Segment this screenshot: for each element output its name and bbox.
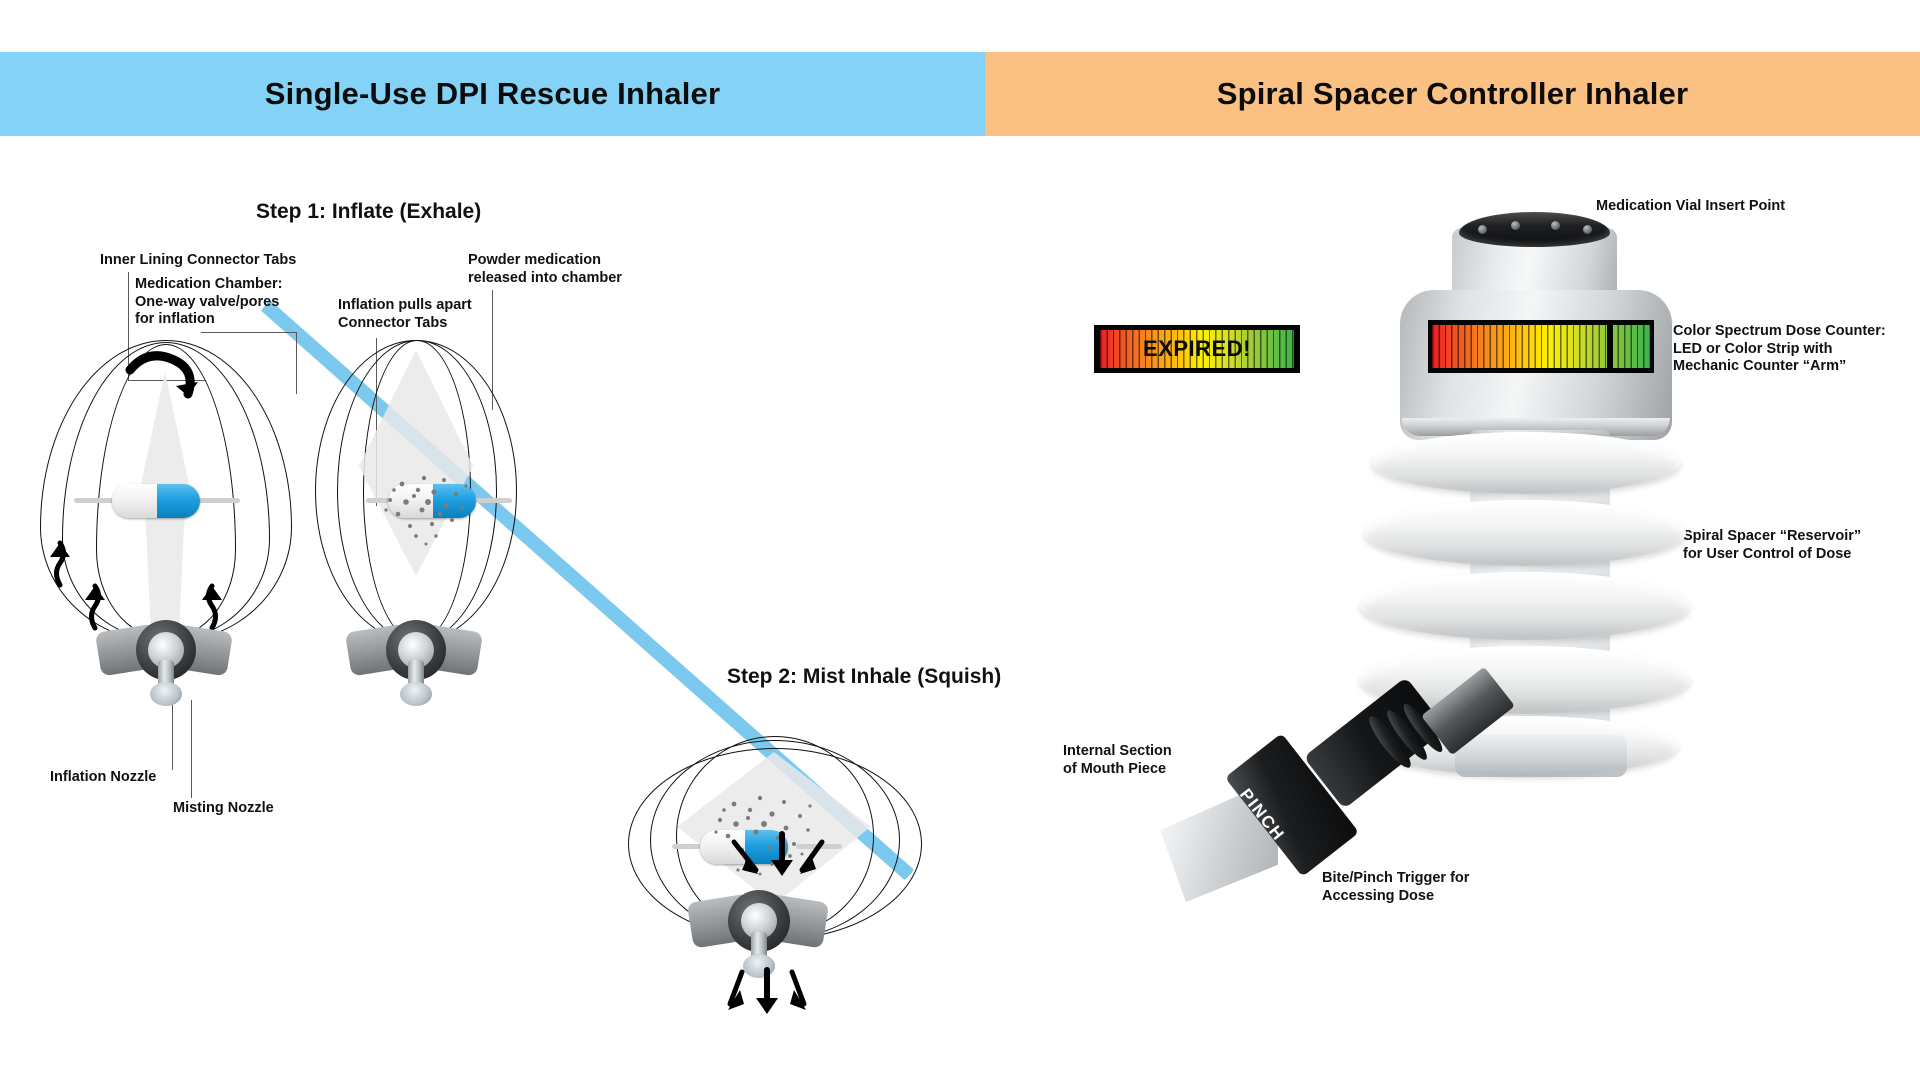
label-inflation-nozzle: Inflation Nozzle <box>50 769 156 787</box>
expired-dose-indicator: EXPIRED! <box>1094 325 1300 373</box>
nozzle-tip-b <box>400 682 432 706</box>
powder-cloud-b <box>370 440 500 570</box>
label-misting-nozzle: Misting Nozzle <box>173 800 274 818</box>
medication-vial-insert-cap[interactable] <box>1459 212 1610 247</box>
color-spectrum-dose-counter <box>1428 320 1654 373</box>
spiral-coil-1 <box>1372 432 1680 494</box>
mist-output-arrows <box>712 968 822 1028</box>
step-1-title: Step 1: Inflate (Exhale) <box>256 200 481 224</box>
leader-medication-chamber <box>296 332 297 394</box>
spiral-coil-3 <box>1360 572 1690 640</box>
label-inner-lining-connector-tabs: Inner Lining Connector Tabs <box>100 252 296 270</box>
spiral-coil-2 <box>1364 500 1686 566</box>
left-panel-title: Single-Use DPI Rescue Inhaler <box>265 76 720 112</box>
mechanic-counter-arm[interactable] <box>1607 325 1613 368</box>
label-color-spectrum-dose-counter: Color Spectrum Dose Counter: LED or Colo… <box>1673 323 1886 376</box>
header-left-panel: Single-Use DPI Rescue Inhaler <box>0 52 985 136</box>
cap-screw-3 <box>1551 221 1560 230</box>
label-medication-vial-insert-point: Medication Vial Insert Point <box>1596 198 1785 216</box>
label-powder-released: Powder medication released into chamber <box>468 252 622 287</box>
header-right-panel: Spiral Spacer Controller Inhaler <box>985 52 1920 136</box>
label-spiral-spacer-reservoir: Spiral Spacer “Reservoir” for User Contr… <box>1683 528 1861 563</box>
header-band: Single-Use DPI Rescue Inhaler Spiral Spa… <box>0 52 1920 136</box>
cap-screw-4 <box>1583 225 1592 234</box>
label-medication-chamber: Medication Chamber: One-way valve/pores … <box>135 276 282 329</box>
right-panel-title: Spiral Spacer Controller Inhaler <box>1217 76 1689 112</box>
mouthpiece-group: PINCH <box>1160 690 1520 920</box>
device-spectrum-ticks <box>1432 325 1650 368</box>
label-inflation-pulls-apart: Inflation pulls apart Connector Tabs <box>338 297 472 332</box>
step-2-title: Step 2: Mist Inhale (Squish) <box>727 665 1001 689</box>
valve-curve-arrow-a <box>118 340 228 420</box>
leader-medication-chamber-h <box>201 332 297 333</box>
cap-screw-2 <box>1511 221 1520 230</box>
label-internal-section-mouthpiece: Internal Section of Mouth Piece <box>1063 743 1172 778</box>
device-spectrum-strip <box>1432 325 1650 368</box>
cap-screw-1 <box>1478 225 1487 234</box>
inflation-arrows-a <box>40 430 290 650</box>
expired-spectrum-strip: EXPIRED! <box>1100 330 1294 368</box>
leader-misting-nozzle <box>191 700 192 798</box>
nozzle-tip-a <box>150 682 182 706</box>
expired-badge-text: EXPIRED! <box>1100 336 1294 362</box>
